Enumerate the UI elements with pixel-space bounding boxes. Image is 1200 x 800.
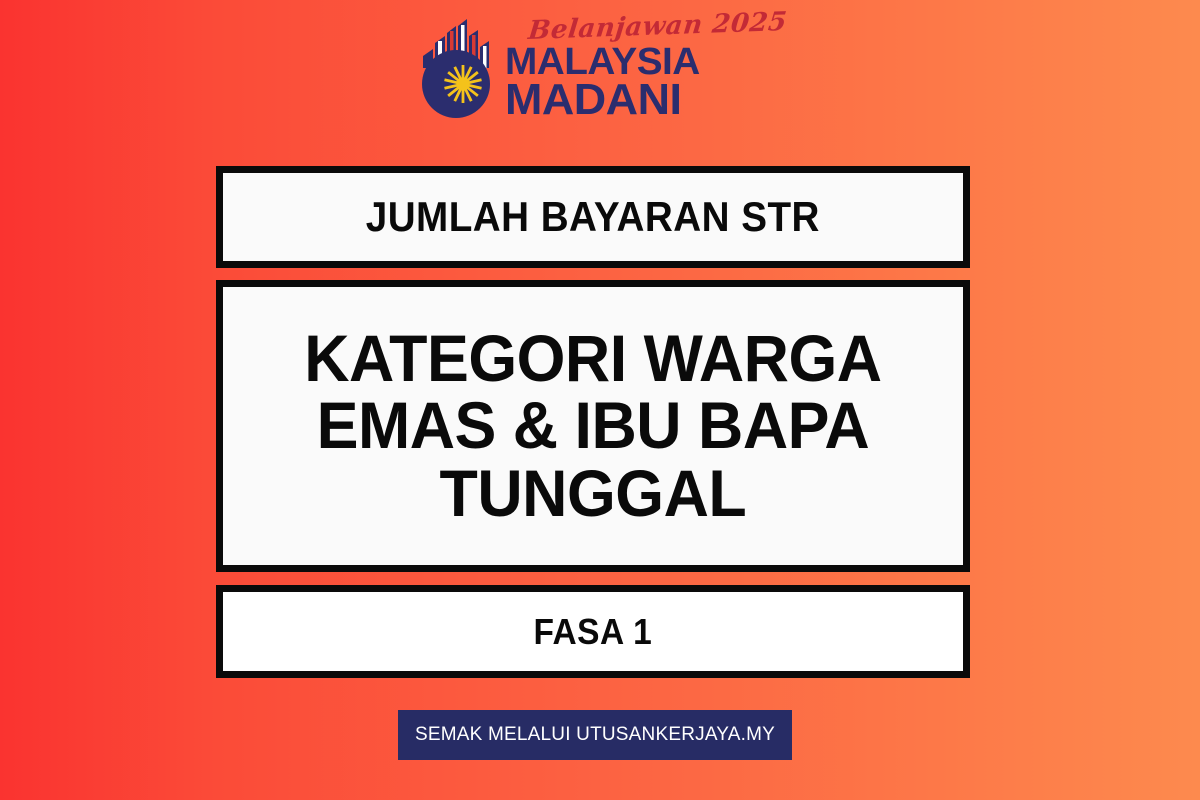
check-website-button-label: SEMAK MELALUI UTUSANKERJAYA.MY <box>415 724 775 746</box>
category-box: KATEGORI WARGA EMAS & IBU BAPA TUNGGAL <box>216 280 970 572</box>
phase-box: FASA 1 <box>216 585 970 678</box>
poster-canvas: Belanjawan 2025 MALAYSIA MADANI JUMLAH B… <box>0 0 1200 800</box>
malaysia-madani-logo: Belanjawan 2025 MALAYSIA MADANI <box>0 16 1200 136</box>
logo-wordmark: Belanjawan 2025 MALAYSIA MADANI <box>505 16 784 120</box>
page-title: JUMLAH BAYARAN STR <box>366 195 820 239</box>
category-headline-line-1: KATEGORI WARGA <box>304 325 881 392</box>
phase-label: FASA 1 <box>534 611 653 653</box>
malaysia-madani-emblem-icon <box>415 16 501 124</box>
check-website-button[interactable]: SEMAK MELALUI UTUSANKERJAYA.MY <box>398 710 792 760</box>
title-box: JUMLAH BAYARAN STR <box>216 166 970 268</box>
logo-tagline: Belanjawan 2025 <box>527 9 788 44</box>
category-headline-line-3: TUNGGAL <box>304 460 881 527</box>
category-headline: KATEGORI WARGA EMAS & IBU BAPA TUNGGAL <box>295 325 891 527</box>
logo-line-madani: MADANI <box>505 80 790 120</box>
category-headline-line-2: EMAS & IBU BAPA <box>304 392 881 459</box>
logo-inner: Belanjawan 2025 MALAYSIA MADANI <box>415 16 784 124</box>
